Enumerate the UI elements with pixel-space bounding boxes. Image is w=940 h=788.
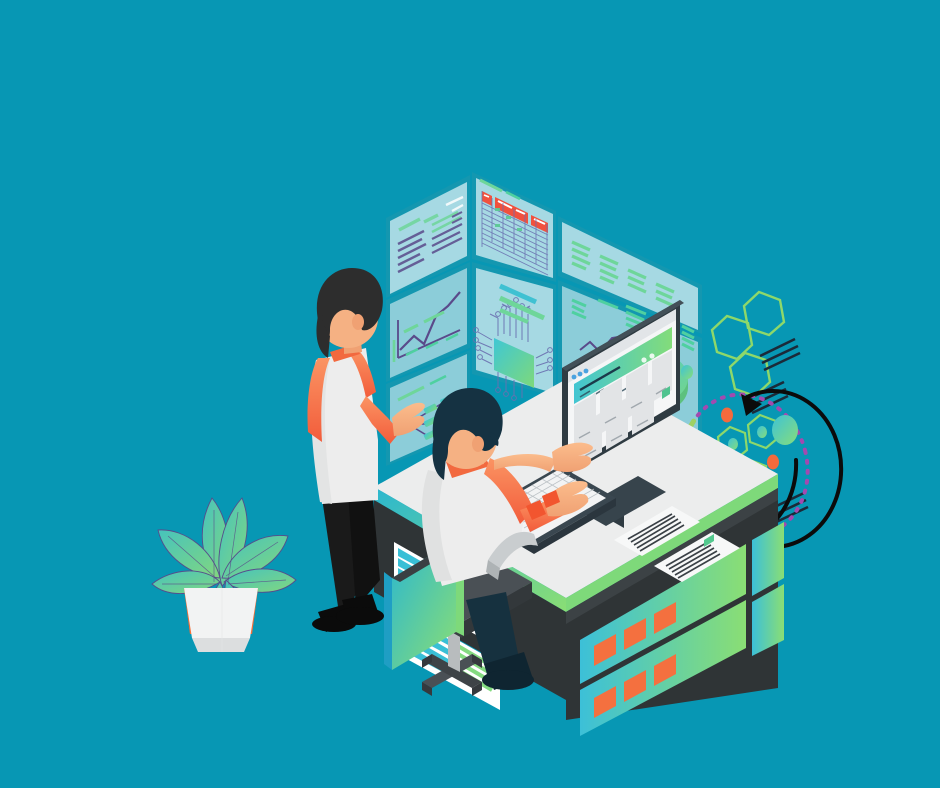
poster-canvas: Key Focus Areas for Content Optimization…: [0, 0, 940, 788]
illustration: [0, 0, 940, 788]
